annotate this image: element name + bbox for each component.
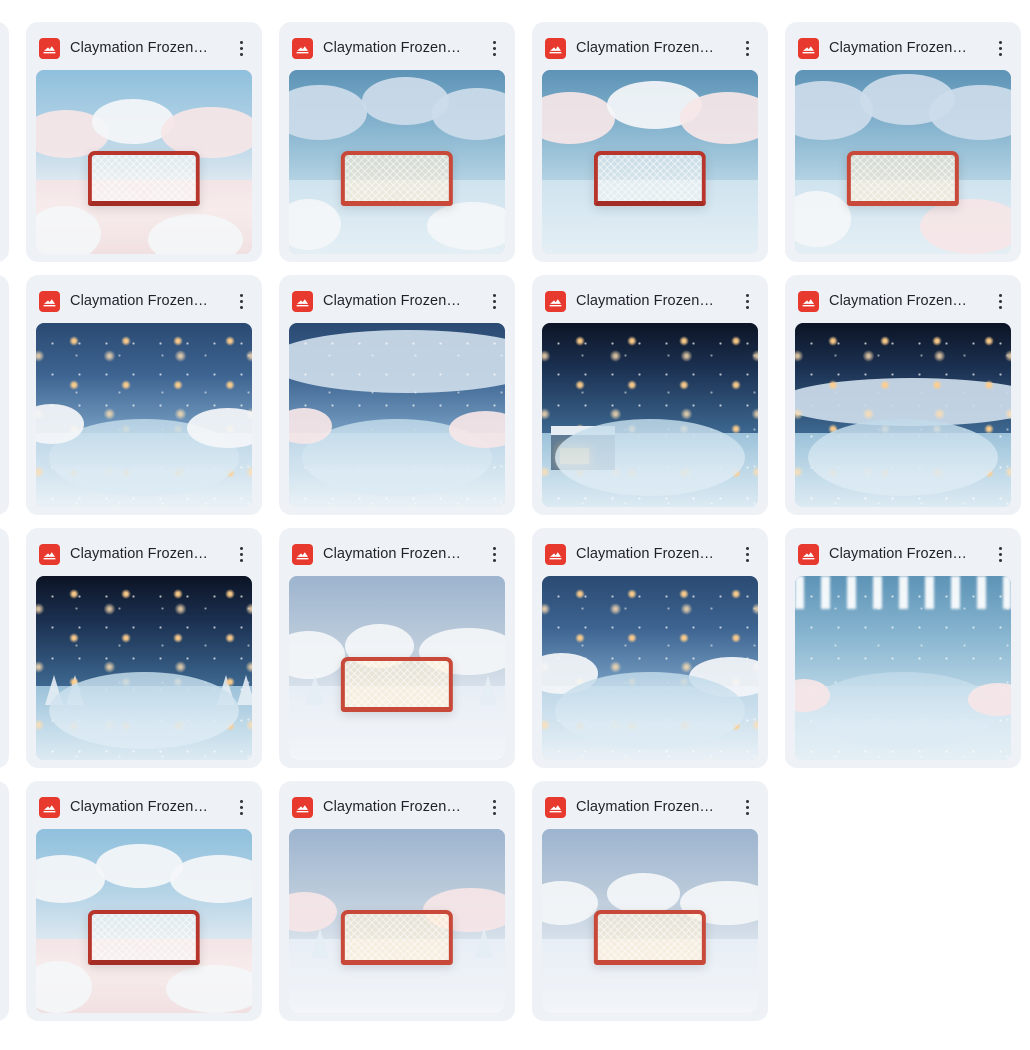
card-thumbnail[interactable] xyxy=(36,70,252,254)
snow-tree xyxy=(479,675,497,705)
card-title: Claymation Frozen… xyxy=(323,39,475,57)
more-options-icon[interactable] xyxy=(991,290,1009,312)
image-file-icon xyxy=(292,797,313,818)
image-card[interactable]: Claymation Frozen… xyxy=(532,528,768,768)
hockey-goal xyxy=(88,151,200,206)
card-thumbnail[interactable] xyxy=(795,576,1011,760)
more-options-icon[interactable] xyxy=(485,37,503,59)
frozen-pond xyxy=(49,672,239,749)
card-thumbnail[interactable] xyxy=(289,70,505,254)
hockey-goal xyxy=(847,151,959,206)
hockey-goal xyxy=(341,910,453,965)
image-card[interactable]: Claymation Frozen… xyxy=(279,528,515,768)
card-title: Claymation Frozen… xyxy=(70,545,222,563)
card-grid: Claymation Frozen…Claymation Frozen…Clay… xyxy=(0,22,1030,1021)
more-options-icon[interactable] xyxy=(738,37,756,59)
frozen-pond xyxy=(808,672,998,749)
image-file-icon xyxy=(545,544,566,565)
hockey-goal xyxy=(594,151,706,206)
image-file-icon xyxy=(798,291,819,312)
hockey-goal xyxy=(341,151,453,206)
more-options-icon[interactable] xyxy=(232,543,250,565)
image-file-icon xyxy=(292,291,313,312)
card-title: Claymation Frozen… xyxy=(323,292,475,310)
snow-tree xyxy=(475,928,493,958)
card-thumbnail[interactable] xyxy=(289,323,505,507)
card-header: Claymation Frozen… xyxy=(289,285,505,317)
card-title: Claymation Frozen… xyxy=(829,39,981,57)
more-options-icon[interactable] xyxy=(485,290,503,312)
image-card[interactable]: Claymation Frozen… xyxy=(532,22,768,262)
card-header: Claymation Frozen… xyxy=(289,32,505,64)
image-card[interactable]: Claymation Frozen… xyxy=(26,275,262,515)
card-header: Claymation Frozen… xyxy=(36,285,252,317)
image-file-icon xyxy=(39,544,60,565)
card-header: Claymation Frozen… xyxy=(542,538,758,570)
card-title: Claymation Frozen… xyxy=(829,545,981,563)
card-thumbnail[interactable] xyxy=(542,576,758,760)
frozen-pond xyxy=(555,672,745,749)
card-title: Claymation Frozen… xyxy=(829,292,981,310)
card-header: Claymation Frozen… xyxy=(542,32,758,64)
card-title: Claymation Frozen… xyxy=(576,545,728,563)
image-card[interactable]: Claymation Frozen… xyxy=(279,22,515,262)
image-file-icon xyxy=(39,38,60,59)
card-thumbnail[interactable] xyxy=(795,323,1011,507)
image-card[interactable]: Claymation Frozen… xyxy=(279,275,515,515)
card-title: Claymation Frozen… xyxy=(70,39,222,57)
hockey-goal xyxy=(594,910,706,965)
hockey-goal xyxy=(341,657,453,712)
card-thumbnail[interactable] xyxy=(289,829,505,1013)
card-thumbnail[interactable] xyxy=(542,829,758,1013)
card-header: Claymation Frozen… xyxy=(289,791,505,823)
card-title: Claymation Frozen… xyxy=(576,39,728,57)
card-thumbnail[interactable] xyxy=(289,576,505,760)
image-card[interactable]: Claymation Frozen… xyxy=(26,22,262,262)
snow-mound xyxy=(680,92,758,144)
card-thumbnail[interactable] xyxy=(36,323,252,507)
image-card[interactable]: Claymation Frozen… xyxy=(532,275,768,515)
image-file-icon xyxy=(545,291,566,312)
image-file-icon xyxy=(39,797,60,818)
card-title: Claymation Frozen… xyxy=(323,545,475,563)
card-thumbnail[interactable] xyxy=(36,829,252,1013)
card-thumbnail[interactable] xyxy=(542,70,758,254)
image-card[interactable]: Claymation Frozen… xyxy=(0,275,9,515)
card-header: Claymation Frozen… xyxy=(542,791,758,823)
more-options-icon[interactable] xyxy=(738,796,756,818)
card-header: Claymation Frozen… xyxy=(542,285,758,317)
snow-mound xyxy=(920,199,1011,254)
image-card[interactable]: Claymation Frozen… xyxy=(785,528,1021,768)
snow-tree xyxy=(311,928,329,958)
card-header: Claymation Frozen… xyxy=(795,32,1011,64)
image-card[interactable]: Claymation Frozen… xyxy=(785,22,1021,262)
more-options-icon[interactable] xyxy=(738,290,756,312)
image-card[interactable]: Claymation Frozen… xyxy=(26,781,262,1021)
card-header: Claymation Frozen… xyxy=(795,538,1011,570)
more-options-icon[interactable] xyxy=(991,543,1009,565)
card-header: Claymation Frozen… xyxy=(795,285,1011,317)
image-gallery: Claymation Frozen…Claymation Frozen…Clay… xyxy=(0,0,1030,1050)
more-options-icon[interactable] xyxy=(991,37,1009,59)
frozen-pond xyxy=(808,419,998,496)
card-title: Claymation Frozen… xyxy=(576,292,728,310)
more-options-icon[interactable] xyxy=(232,37,250,59)
image-card[interactable]: Claymation Frozen… xyxy=(0,22,9,262)
more-options-icon[interactable] xyxy=(232,796,250,818)
image-file-icon xyxy=(39,291,60,312)
image-file-icon xyxy=(545,797,566,818)
card-header: Claymation Frozen… xyxy=(36,538,252,570)
card-header: Claymation Frozen… xyxy=(36,791,252,823)
more-options-icon[interactable] xyxy=(232,290,250,312)
more-options-icon[interactable] xyxy=(738,543,756,565)
image-card[interactable]: Claymation Frozen… xyxy=(0,781,9,1021)
more-options-icon[interactable] xyxy=(485,796,503,818)
frozen-pond xyxy=(555,419,745,496)
image-card[interactable]: Claymation Frozen… xyxy=(532,781,768,1021)
image-card[interactable]: Claymation Frozen… xyxy=(785,275,1021,515)
card-header: Claymation Frozen… xyxy=(289,538,505,570)
image-file-icon xyxy=(292,544,313,565)
image-file-icon xyxy=(292,38,313,59)
card-thumbnail[interactable] xyxy=(795,70,1011,254)
card-thumbnail[interactable] xyxy=(542,323,758,507)
image-file-icon xyxy=(545,38,566,59)
snow-mound xyxy=(607,873,680,913)
image-card[interactable]: Claymation Frozen… xyxy=(279,781,515,1021)
card-thumbnail[interactable] xyxy=(36,576,252,760)
card-title: Claymation Frozen… xyxy=(70,292,222,310)
card-title: Claymation Frozen… xyxy=(576,798,728,816)
image-file-icon xyxy=(798,38,819,59)
card-header: Claymation Frozen… xyxy=(36,32,252,64)
image-card[interactable]: Claymation Frozen… xyxy=(0,528,9,768)
card-title: Claymation Frozen… xyxy=(70,798,222,816)
snow-tree xyxy=(306,675,324,705)
card-title: Claymation Frozen… xyxy=(323,798,475,816)
more-options-icon[interactable] xyxy=(485,543,503,565)
hockey-goal xyxy=(88,910,200,965)
image-file-icon xyxy=(798,544,819,565)
image-card[interactable]: Claymation Frozen… xyxy=(26,528,262,768)
